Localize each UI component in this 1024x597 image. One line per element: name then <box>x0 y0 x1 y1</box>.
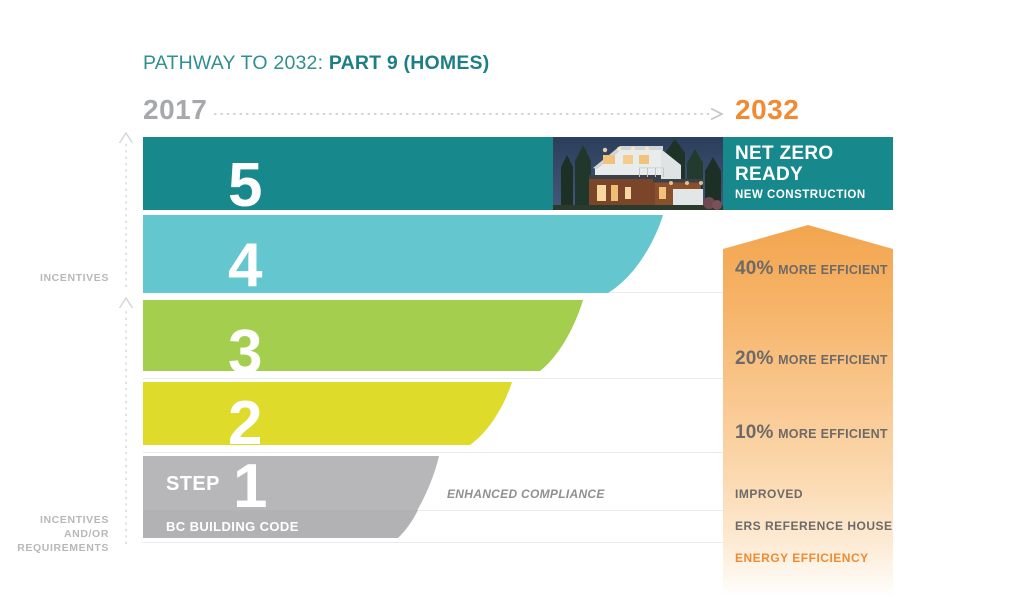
step-word-label: STEP <box>166 473 220 496</box>
step-bar-3 <box>143 300 583 371</box>
bc-building-code-label: BC BUILDING CODE <box>166 519 299 534</box>
step-number-3: 3 <box>228 322 261 384</box>
step-bars-group <box>0 0 1024 597</box>
enhanced-compliance-label: ENHANCED COMPLIANCE <box>447 487 605 501</box>
step-number-5: 5 <box>228 155 261 217</box>
home-photo <box>553 137 723 210</box>
net-zero-ready-title: NET ZERO READY <box>735 143 833 185</box>
step-bar-2 <box>143 382 512 445</box>
step-number-4: 4 <box>228 235 261 297</box>
step-number-1: 1 <box>233 456 266 518</box>
new-construction-subtitle: NEW CONSTRUCTION <box>735 189 866 201</box>
net-zero-line2: READY <box>735 164 833 185</box>
infographic-canvas: PATHWAY TO 2032: PART 9 (HOMES) 2017 203… <box>0 0 1024 597</box>
net-zero-line1: NET ZERO <box>735 143 833 164</box>
step-bar-4 <box>143 215 663 293</box>
step-number-2: 2 <box>228 393 261 455</box>
